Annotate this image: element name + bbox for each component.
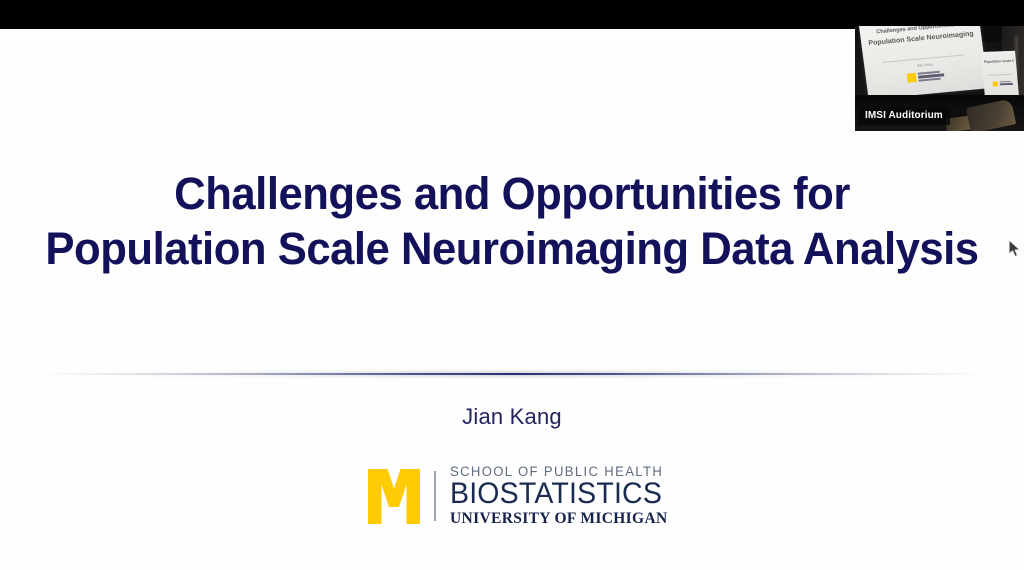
mini-side-title: Population Scale Neuroimaging Data Analy… — [984, 59, 1014, 64]
mini-side-wordmark-line-2 — [1000, 83, 1013, 85]
presentation-screen: Challenges and Opportunities for Populat… — [0, 0, 1024, 570]
mini-block-m-icon — [906, 73, 916, 83]
logo-wordmark: SCHOOL OF PUBLIC HEALTH BIOSTATISTICS UN… — [450, 464, 688, 528]
title-line-1: Challenges and Opportunities for — [15, 167, 1008, 221]
block-m-icon — [368, 469, 420, 524]
pip-top-letterbox — [855, 0, 1024, 26]
projection-screen-secondary: Population Scale Neuroimaging Data Analy… — [981, 51, 1019, 100]
mini-side-divider — [988, 74, 1011, 76]
projection-screen-main: Challenges and Opportunities for Populat… — [859, 15, 988, 99]
author-name: Jian Kang — [0, 404, 1024, 430]
mini-author-name: Jian Kang — [865, 57, 985, 72]
divider — [0, 369, 1024, 379]
logo-line-department: BIOSTATISTICS — [450, 479, 676, 509]
page-title: Challenges and Opportunities for Populat… — [0, 167, 1024, 277]
mini-side-block-m-icon — [992, 81, 997, 86]
logo-divider-rule — [434, 471, 436, 521]
mini-side-logo — [992, 81, 1012, 87]
divider-rule — [40, 373, 984, 375]
video-source-label: IMSI Auditorium — [859, 108, 950, 125]
mini-side-wordmark — [999, 81, 1012, 85]
mini-logo — [906, 70, 944, 82]
logo-line-university: UNIVERSITY OF MICHIGAN — [450, 510, 688, 528]
title-line-2: Population Scale Neuroimaging Data Analy… — [15, 221, 1008, 277]
video-overlay-pip[interactable]: Challenges and Opportunities for Populat… — [855, 0, 1024, 131]
umich-biostatistics-logo: SCHOOL OF PUBLIC HEALTH BIOSTATISTICS UN… — [368, 466, 688, 526]
mini-wordmark — [917, 70, 944, 81]
